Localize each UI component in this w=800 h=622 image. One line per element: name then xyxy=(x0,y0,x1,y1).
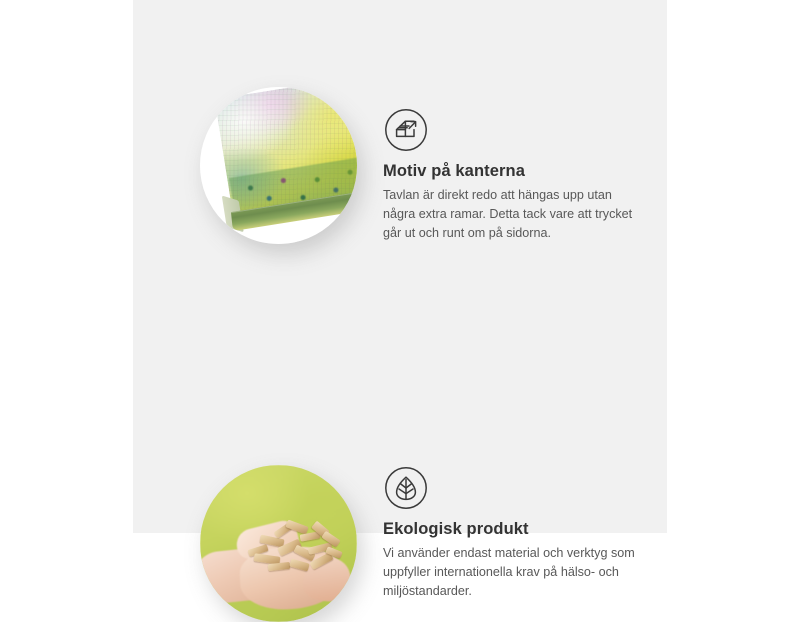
feature-block-ekologisk-produkt: Ekologisk produkt Vi använder endast mat… xyxy=(133,180,667,450)
hands-holding-wood-chips-photo xyxy=(200,465,357,622)
feature-title: Motiv på kanterna xyxy=(383,161,663,182)
feature-description: Vi använder endast material och verktyg … xyxy=(383,544,645,601)
feature-title: Ekologisk produkt xyxy=(383,519,663,540)
product-info-graphic: Motiv på kanterna Tavlan är direkt redo … xyxy=(0,0,800,533)
canvas-wrapped-edge-icon xyxy=(384,108,428,152)
wood-chips-pile xyxy=(244,521,344,575)
content-panel: Motiv på kanterna Tavlan är direkt redo … xyxy=(133,0,667,533)
feature-text-ekologisk-produkt: Ekologisk produkt Vi använder endast mat… xyxy=(383,466,663,601)
leaf-icon xyxy=(384,466,428,510)
